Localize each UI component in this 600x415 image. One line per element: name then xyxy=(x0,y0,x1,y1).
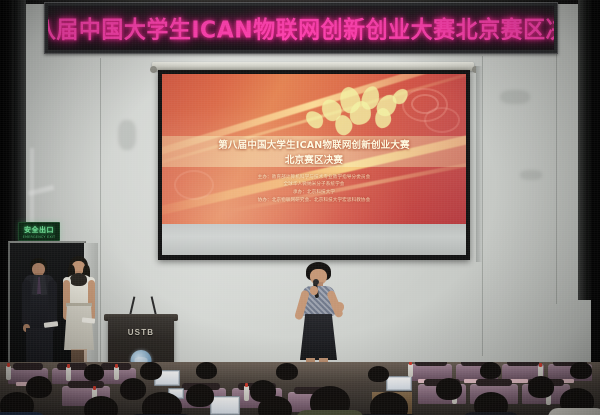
screen-roller-cap-left xyxy=(150,66,157,73)
presentation-slide: 第八届中国大学生ICAN物联网创新创业大赛 北京赛区决赛 主办：教育部计算机科学… xyxy=(162,74,466,224)
lectern-label: USTB xyxy=(108,328,174,337)
audience-head xyxy=(368,366,389,382)
audience-head xyxy=(84,364,104,381)
audience-shoulders xyxy=(548,408,600,415)
slide-credit-line: 主办：教育部计算机科学与技术专业教学指导分委员会 xyxy=(258,175,371,181)
screen-lower-blank-area xyxy=(162,224,466,255)
screen-surface: 第八届中国大学生ICAN物联网创新创业大赛 北京赛区决赛 主办：教育部计算机科学… xyxy=(162,74,466,255)
audience-head xyxy=(258,396,292,415)
audience-head xyxy=(276,363,298,380)
wall-seam xyxy=(482,56,483,356)
led-banner-panel: 第八届中国大学生ICAN物联网创新创业大赛北京赛区决赛 xyxy=(48,6,554,50)
led-banner: 第八届中国大学生ICAN物联网创新创业大赛北京赛区决赛 xyxy=(44,2,558,54)
led-banner-text: 第八届中国大学生ICAN物联网创新创业大赛北京赛区决赛 xyxy=(48,11,554,45)
host-male-arm xyxy=(48,280,57,326)
slide-credit-line: 全球华人微纳米分子系统学会 xyxy=(283,182,344,188)
wall-seam xyxy=(100,58,101,368)
audience-head xyxy=(528,376,554,398)
speaker-hand-holding-mic xyxy=(310,286,318,295)
water-bottle xyxy=(6,366,11,380)
host-female-skirt xyxy=(64,306,94,350)
audience-area xyxy=(0,362,600,415)
audience-laptop xyxy=(210,396,240,415)
wall-smudge xyxy=(118,120,136,150)
audience-head xyxy=(26,376,52,398)
auditorium-photo: 第八届中国大学生ICAN物联网创新创业大赛北京赛区决赛 xyxy=(0,0,600,415)
water-bottle xyxy=(114,367,119,380)
name-card xyxy=(510,379,528,383)
audience-head xyxy=(370,392,408,415)
water-bottle xyxy=(66,367,71,381)
host-male-script-card xyxy=(44,321,59,328)
host-male-arm xyxy=(22,280,31,326)
audience-head xyxy=(84,396,118,415)
exit-sign-label: 安全出口 xyxy=(24,225,54,235)
water-bottle xyxy=(244,386,249,401)
emergency-exit-sign: 安全出口 EMERGENCY EXIT xyxy=(18,222,60,241)
exit-sign-sublabel: EMERGENCY EXIT xyxy=(23,235,56,239)
slide-title-line-1: 第八届中国大学生ICAN物联网创新创业大赛 xyxy=(218,137,410,151)
audience-shoulders xyxy=(296,410,364,415)
audience-head xyxy=(140,362,162,380)
wall-panel-right-of-screen xyxy=(476,66,482,262)
microphone-head-icon xyxy=(313,279,319,285)
wall-smudge xyxy=(520,170,542,180)
slide-title-line-2: 北京赛区决赛 xyxy=(285,152,343,166)
slide-title-band: 第八届中国大学生ICAN物联网创新创业大赛 北京赛区决赛 xyxy=(162,136,466,168)
speaker-skirt xyxy=(300,314,337,360)
slide-credits: 主办：教育部计算机科学与技术专业教学指导分委员会 全球华人微纳米分子系统学会 承… xyxy=(162,175,466,204)
slide-credit-line: 协办：北京物联网研究会、北京科技大学宏思科教协会 xyxy=(258,198,371,204)
audience-head xyxy=(186,384,214,407)
host-female-scarf xyxy=(70,273,87,286)
audience-head xyxy=(480,362,501,379)
speaker-gesturing-hand xyxy=(334,302,344,312)
projection-screen: 第八届中国大学生ICAN物联网创新创业大赛 北京赛区决赛 主办：教育部计算机科学… xyxy=(158,70,470,260)
audience-head xyxy=(120,378,146,400)
slide-credit-line: 承办：北京科技大学 xyxy=(293,190,335,196)
audience-head xyxy=(196,362,217,379)
wall-smudge xyxy=(500,90,530,104)
audience-head xyxy=(436,378,462,400)
water-bottle xyxy=(408,364,413,377)
right-wall-edge xyxy=(591,0,600,415)
audience-laptop xyxy=(386,376,412,391)
audience-head xyxy=(142,392,182,415)
audience-head xyxy=(570,362,592,379)
